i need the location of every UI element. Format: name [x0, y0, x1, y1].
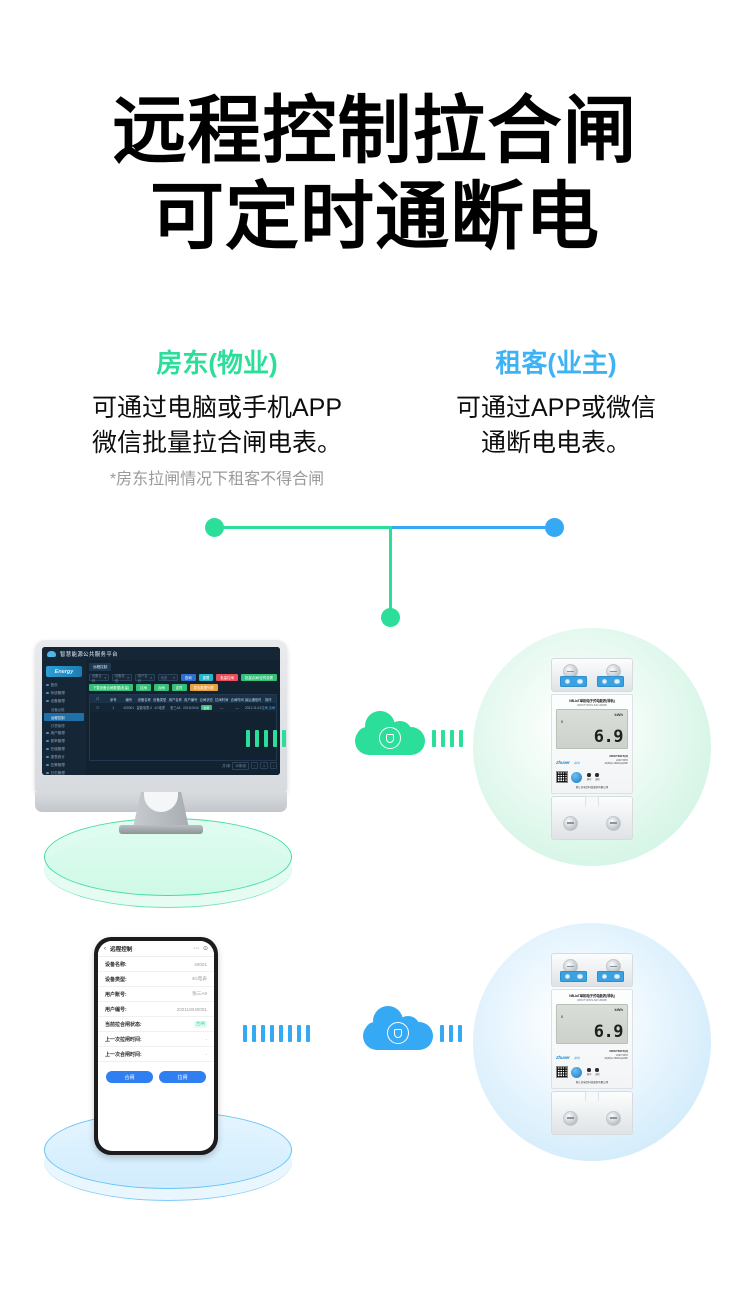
sidebar-label-5: 抄表管理 [51, 723, 65, 728]
cloud-logo-icon [47, 651, 56, 657]
app-label-last-trip: 上一次拉闸时间: [105, 1036, 142, 1043]
mobile-phone: ‹ 远程控制 ⋯ ⊙ 设备名称: 40001 设备类型: 4G电表 用户账号: … [94, 937, 218, 1155]
sidebar-item-4[interactable]: 远程控制 [44, 713, 84, 721]
meter-brand-row: Zhuoer 卓尔 DDSY8117(2) 220V 50Hz 10(60)A … [556, 1046, 628, 1064]
chevron-down-icon: ▾ [150, 676, 152, 680]
qr-code-icon [556, 771, 568, 783]
pager-prev[interactable]: ‹ [251, 762, 258, 769]
sidebar-item-11[interactable]: 日志管理 [44, 769, 84, 775]
led-comm-label: 通讯 [595, 1072, 599, 1076]
meter-lower-terminal-block [551, 1091, 633, 1135]
chip-trip[interactable]: 拉闸 [136, 684, 151, 691]
headline-line-2: 可定时通断电 [0, 174, 750, 260]
power-button-icon[interactable] [571, 1067, 582, 1078]
sidebar-label-4: 远程控制 [51, 715, 65, 720]
led-pulse-label: 脉冲 [587, 1072, 591, 1076]
lcd-unit-label: kWh [615, 712, 623, 717]
column-tenant-title: 租客(业主) [396, 348, 716, 379]
cloud-shield-icon [355, 713, 425, 755]
status-badge: 合闸 [201, 705, 212, 710]
bullet-icon [46, 684, 49, 687]
app-row-user-account[interactable]: 用户账号: 张三A6 [98, 987, 214, 1002]
meter-company-label: 浙江卓电力科技股份有限公司 [556, 785, 628, 789]
meter-notch [585, 796, 599, 806]
filter-user-name-placeholder: 用户名称 [138, 673, 150, 683]
chip-download[interactable]: 下载设备合闸数据(批量) [89, 684, 133, 691]
signal-dashes-right-top [432, 730, 463, 747]
column-tenant: 租客(业主) 可通过APP或微信 通断电电表。 [396, 348, 716, 460]
page-title: 远程控制拉合闸 可定时通断电 [0, 88, 750, 260]
qr-code-icon [556, 1066, 568, 1078]
app-label-user-code: 用户编号: [105, 1006, 127, 1013]
app-value-user-code: 202110040001 [177, 1007, 207, 1012]
reset-button[interactable]: 重置 [199, 674, 214, 681]
terminal-blue-left [560, 971, 587, 982]
meter-submodel-label: DDS/TY/DVS-S2Y-20008 [556, 704, 628, 707]
scene-desktop: 智慧能源公共服务平台 Energy 首页 系统管理 设备管理 设备台账 远程控制… [0, 620, 750, 910]
table-header-10: 最后通信时间 [245, 697, 261, 702]
dashboard-titlebar: 智慧能源公共服务平台 [42, 647, 280, 660]
table-header-0[interactable]: ☐ [90, 697, 106, 701]
sidebar-label-11: 日志管理 [51, 771, 65, 776]
chip-close[interactable]: 合闸 [154, 684, 169, 691]
electric-meter-top: NB-IoT单相电子式电能表(导轨) DDS/TY/DVS-S2Y-20008 … [551, 658, 633, 840]
column-tenant-body-1: 可通过APP或微信 [396, 391, 716, 426]
connector-line-left [214, 526, 391, 529]
row-device-name: 智能电表-01 [137, 705, 153, 710]
row-checkbox[interactable]: ☐ [90, 706, 106, 710]
monitor-base [119, 825, 203, 834]
lcd-reading: 6.9 [594, 729, 623, 746]
sidebar-label-7: 费率管理 [51, 739, 65, 744]
meter-lcd-display: kWh B 6.9 [556, 709, 628, 749]
meter-leds: 脉冲 通讯 [587, 1068, 600, 1076]
table-header-7: 合闸状态 [199, 697, 215, 702]
connector-dot-right [545, 518, 564, 537]
column-landlord-note: *房东拉闸情况下租客不得合闸 [52, 470, 382, 491]
table-header-6: 用户编号 [183, 697, 199, 702]
dashboard-logo: Energy [46, 666, 82, 677]
row-last-comm: 2021-11-04 10:22 [245, 706, 261, 710]
headline-line-1: 远程控制拉合闸 [0, 88, 750, 174]
meter-leds: 脉冲 通讯 [587, 773, 600, 781]
terminal-blue-left [560, 676, 587, 687]
phone-screen: ‹ 远程控制 ⋯ ⊙ 设备名称: 40001 设备类型: 4G电表 用户账号: … [98, 941, 214, 1151]
app-value-user-account: 张三A6 [192, 991, 207, 997]
row-actions[interactable]: 拉闸 合闸 [261, 705, 277, 710]
desktop-monitor: 智慧能源公共服务平台 Energy 首页 系统管理 设备管理 设备台账 远程控制… [35, 640, 287, 812]
batch-trip-button[interactable]: 批量拉闸 [216, 674, 238, 681]
monitor-bezel: 智慧能源公共服务平台 Energy 首页 系统管理 设备管理 设备台账 远程控制… [35, 640, 287, 792]
trip-breaker-button[interactable]: 拉闸 [159, 1071, 206, 1083]
close-breaker-button[interactable]: 合闸 [106, 1071, 153, 1083]
meter-model-label: NB-IoT单相电子式电能表(导轨) [556, 698, 628, 703]
app-nav-title: 远程控制 [110, 945, 189, 953]
meter-control-row: 脉冲 通讯 [556, 771, 628, 783]
app-action-buttons: 合闸 拉闸 [98, 1062, 214, 1083]
meter-upper-terminal-block [551, 658, 633, 692]
app-row-last-trip[interactable]: 上一次拉闸时间: - [98, 1032, 214, 1047]
batch-close-button[interactable]: 批量合闸/定时设置 [241, 674, 277, 681]
app-row-breaker-status[interactable]: 当前拉合闸状态: 合闸 [98, 1017, 214, 1032]
meter-brand-cn-label: 卓尔 [574, 761, 580, 765]
meter-spec-2: 10(60)A 1600imp/kWh [604, 1057, 628, 1060]
dashboard-tabbar: 远程控制 [89, 663, 277, 671]
meter-brand-row: Zhuoer 卓尔 DDSY8117(2) 220V 50Hz 10(60)A … [556, 751, 628, 769]
lcd-reading: 6.9 [594, 1024, 623, 1041]
row-index: 1 [106, 706, 122, 710]
pager-total: 共1条 [222, 763, 230, 768]
screw-icon [563, 1111, 578, 1126]
sidebar-label-8: 充值管理 [51, 747, 65, 752]
filter-device-type[interactable]: 设备类型▾ [112, 674, 132, 681]
bullet-icon [46, 740, 49, 743]
lcd-indicator: B [561, 1015, 563, 1019]
app-value-breaker-status: 合闸 [194, 1021, 207, 1028]
shield-glyph-icon [386, 734, 394, 743]
chevron-down-icon: ▾ [173, 676, 175, 680]
sidebar-item-0[interactable]: 首页 [44, 681, 84, 689]
table-row[interactable]: ☐ 1 400001 智能电表-01 4G电表 张三A6 20211004000… [90, 703, 276, 712]
app-row-device-type[interactable]: 设备类型: 4G电表 [98, 972, 214, 987]
sidebar-item-9[interactable]: 报表统计 [44, 753, 84, 761]
meter-lcd-display: kWh B 6.9 [556, 1004, 628, 1044]
signal-dashes-left-top [246, 730, 286, 747]
filter-device-type-placeholder: 设备类型 [115, 673, 127, 683]
cloud-shield-icon [363, 1008, 433, 1050]
connector-line-right [389, 526, 554, 529]
led-pulse-label: 脉冲 [587, 777, 591, 781]
filter-device-name-placeholder: 设备名称 [92, 673, 104, 683]
app-row-device-name[interactable]: 设备名称: 40001 [98, 957, 214, 972]
scene-mobile: ‹ 远程控制 ⋯ ⊙ 设备名称: 40001 设备类型: 4G电表 用户账号: … [0, 915, 750, 1215]
app-label-breaker-status: 当前拉合闸状态: [105, 1021, 142, 1028]
meter-brand-label: Zhuoer [556, 760, 570, 765]
app-label-device-name: 设备名称: [105, 961, 127, 968]
screw-icon [563, 816, 578, 831]
sidebar-label-1: 系统管理 [51, 691, 65, 696]
column-landlord-body-2: 微信批量拉合闸电表。 [52, 426, 382, 461]
screw-icon [606, 816, 621, 831]
row-trip-time: — [214, 706, 230, 710]
more-icon[interactable]: ⋯ [193, 945, 199, 952]
phone-frame: ‹ 远程控制 ⋯ ⊙ 设备名称: 40001 设备类型: 4G电表 用户账号: … [94, 937, 218, 1155]
table-header-8: 拉闸时间 [214, 697, 230, 702]
app-label-device-type: 设备类型: [105, 976, 127, 983]
table-header-5: 用户名称 [168, 697, 184, 702]
meter-company-label: 浙江卓电力科技股份有限公司 [556, 1080, 628, 1084]
sidebar-item-6[interactable]: 用户管理 [44, 729, 84, 737]
dashboard-sidebar: Energy 首页 系统管理 设备管理 设备台账 远程控制 抄表管理 用户管理 … [42, 660, 86, 775]
dashboard-table: ☐ 序号 编号 设备名称 设备类型 用户名称 用户编号 合闸状态 拉闸时间 合闸… [89, 694, 277, 761]
lcd-unit-label: kWh [615, 1007, 623, 1012]
monitor-neck [133, 792, 189, 828]
row-user-code: 202110040001 [183, 706, 199, 710]
tab-remote-control[interactable]: 远程控制 [89, 663, 111, 671]
meter-upper-terminal-block [551, 953, 633, 987]
gear-icon[interactable]: ⊙ [203, 945, 208, 952]
dashboard-title: 智慧能源公共服务平台 [60, 650, 118, 658]
dashboard-main: 远程控制 设备名称▾ 设备类型▾ 用户名称▾ 状态▾ 查询 重置 批量拉闸 批量… [86, 660, 280, 775]
app-row-user-code[interactable]: 用户编号: 202110040001 [98, 1002, 214, 1017]
connector-line-stem [389, 526, 392, 616]
meter-brand-cn-label: 卓尔 [574, 1056, 580, 1060]
shield-ring-icon [379, 727, 401, 749]
row-status: 合闸 [199, 705, 215, 710]
pager-next[interactable]: › [270, 762, 277, 769]
lcd-indicator: B [561, 720, 563, 724]
screw-icon [606, 1111, 621, 1126]
connector-dot-left [205, 518, 224, 537]
search-button[interactable]: 查询 [181, 674, 196, 681]
dashboard-actions: 下载设备合闸数据(批量) 拉闸 合闸 定时 导出数据列表 [89, 684, 277, 691]
sidebar-item-1[interactable]: 系统管理 [44, 689, 84, 697]
table-header-12: 操作 [261, 697, 277, 702]
filter-status[interactable]: 状态▾ [158, 674, 178, 681]
app-label-user-account: 用户账号: [105, 991, 127, 998]
chevron-left-icon[interactable]: ‹ [104, 946, 106, 952]
meter-submodel-label: DDS/TY/DVS-S2Y-20008 [556, 999, 628, 1002]
signal-dashes-right-bottom [440, 1025, 462, 1042]
sidebar-label-3: 设备台账 [51, 707, 65, 712]
row-close-time: — [230, 706, 246, 710]
cloud-bottom [363, 1008, 433, 1050]
row-code: 400001 [121, 706, 137, 710]
meter-spec-2: 10(60)A 1600imp/kWh [604, 762, 628, 765]
led-comm-label: 通讯 [595, 777, 599, 781]
column-tenant-body-2: 通断电电表。 [396, 426, 716, 461]
table-header-4: 设备类型 [152, 697, 168, 702]
column-landlord-body-1: 可通过电脑或手机APP [52, 391, 382, 426]
table-header-1: 序号 [106, 697, 122, 702]
meter-brand-label: Zhuoer [556, 1055, 570, 1060]
app-value-last-close: - [205, 1052, 207, 1057]
column-landlord: 房东(物业) 可通过电脑或手机APP 微信批量拉合闸电表。 *房东拉闸情况下租客… [52, 348, 382, 491]
bullet-icon [46, 756, 49, 759]
sidebar-label-0: 首页 [51, 683, 58, 688]
sidebar-item-2[interactable]: 设备管理 [44, 697, 84, 705]
pager-page-size[interactable]: 10条/页 [232, 762, 249, 770]
bullet-icon [46, 764, 49, 767]
filter-user-name[interactable]: 用户名称▾ [135, 674, 155, 681]
sidebar-label-9: 报表统计 [51, 755, 65, 760]
bullet-icon [46, 700, 49, 703]
app-label-last-close: 上一次合闸时间: [105, 1051, 142, 1058]
app-value-device-name: 40001 [194, 962, 207, 967]
sidebar-item-7[interactable]: 费率管理 [44, 737, 84, 745]
sidebar-item-5[interactable]: 抄表管理 [44, 721, 84, 729]
shield-ring-icon [387, 1022, 409, 1044]
table-header-2: 编号 [121, 697, 137, 702]
monitor-screen: 智慧能源公共服务平台 Energy 首页 系统管理 设备管理 设备台账 远程控制… [42, 647, 280, 775]
meter-control-row: 脉冲 通讯 [556, 1066, 628, 1078]
row-user-name: 张三A6 [168, 705, 184, 710]
meter-notch [585, 1091, 599, 1101]
app-value-device-type: 4G电表 [192, 976, 207, 982]
bullet-icon [46, 692, 49, 695]
filter-status-placeholder: 状态 [161, 675, 167, 680]
table-header-9: 合闸时间 [230, 697, 246, 702]
sidebar-item-3[interactable]: 设备台账 [44, 705, 84, 713]
meter-model-label: NB-IoT单相电子式电能表(导轨) [556, 993, 628, 998]
chip-export[interactable]: 导出数据列表 [190, 684, 218, 691]
dashboard-body: Energy 首页 系统管理 设备管理 设备台账 远程控制 抄表管理 用户管理 … [42, 660, 280, 775]
shield-glyph-icon [394, 1029, 402, 1038]
app-row-last-close[interactable]: 上一次合闸时间: - [98, 1047, 214, 1062]
bullet-icon [46, 748, 49, 751]
table-header-3: 设备名称 [137, 697, 153, 702]
app-navbar: ‹ 远程控制 ⋯ ⊙ [98, 941, 214, 957]
terminal-blue-right [597, 971, 624, 982]
chip-timer[interactable]: 定时 [172, 684, 187, 691]
table-header-row: ☐ 序号 编号 设备名称 设备类型 用户名称 用户编号 合闸状态 拉闸时间 合闸… [90, 695, 276, 703]
dashboard-filters: 设备名称▾ 设备类型▾ 用户名称▾ 状态▾ 查询 重置 批量拉闸 批量合闸/定时… [89, 674, 277, 681]
column-landlord-title: 房东(物业) [52, 348, 382, 379]
action-close[interactable]: 合闸 [269, 706, 275, 710]
pager-current[interactable]: 1 [260, 762, 268, 769]
sidebar-item-8[interactable]: 充值管理 [44, 745, 84, 753]
electric-meter-bottom: NB-IoT单相电子式电能表(导轨) DDS/TY/DVS-S2Y-20008 … [551, 953, 633, 1135]
chevron-down-icon: ▾ [127, 676, 129, 680]
action-trip[interactable]: 拉闸 [261, 706, 267, 710]
cloud-top [355, 713, 425, 755]
filter-device-name[interactable]: 设备名称▾ [89, 674, 109, 681]
meter-face: NB-IoT单相电子式电能表(导轨) DDS/TY/DVS-S2Y-20008 … [551, 989, 633, 1089]
terminal-blue-right [597, 676, 624, 687]
signal-dashes-left-bottom [243, 1025, 310, 1042]
row-device-type: 4G电表 [152, 705, 168, 710]
sidebar-label-2: 设备管理 [51, 699, 65, 704]
chevron-down-icon: ▾ [104, 676, 106, 680]
bullet-icon [46, 772, 49, 775]
sidebar-item-10[interactable]: 告警管理 [44, 761, 84, 769]
power-button-icon[interactable] [571, 772, 582, 783]
app-value-last-trip: - [205, 1037, 207, 1042]
meter-lower-terminal-block [551, 796, 633, 840]
sidebar-label-6: 用户管理 [51, 731, 65, 736]
dashboard-pager: 共1条 10条/页 ‹ 1 › [89, 761, 277, 770]
meter-face: NB-IoT单相电子式电能表(导轨) DDS/TY/DVS-S2Y-20008 … [551, 694, 633, 794]
sidebar-label-10: 告警管理 [51, 763, 65, 768]
bullet-icon [46, 732, 49, 735]
